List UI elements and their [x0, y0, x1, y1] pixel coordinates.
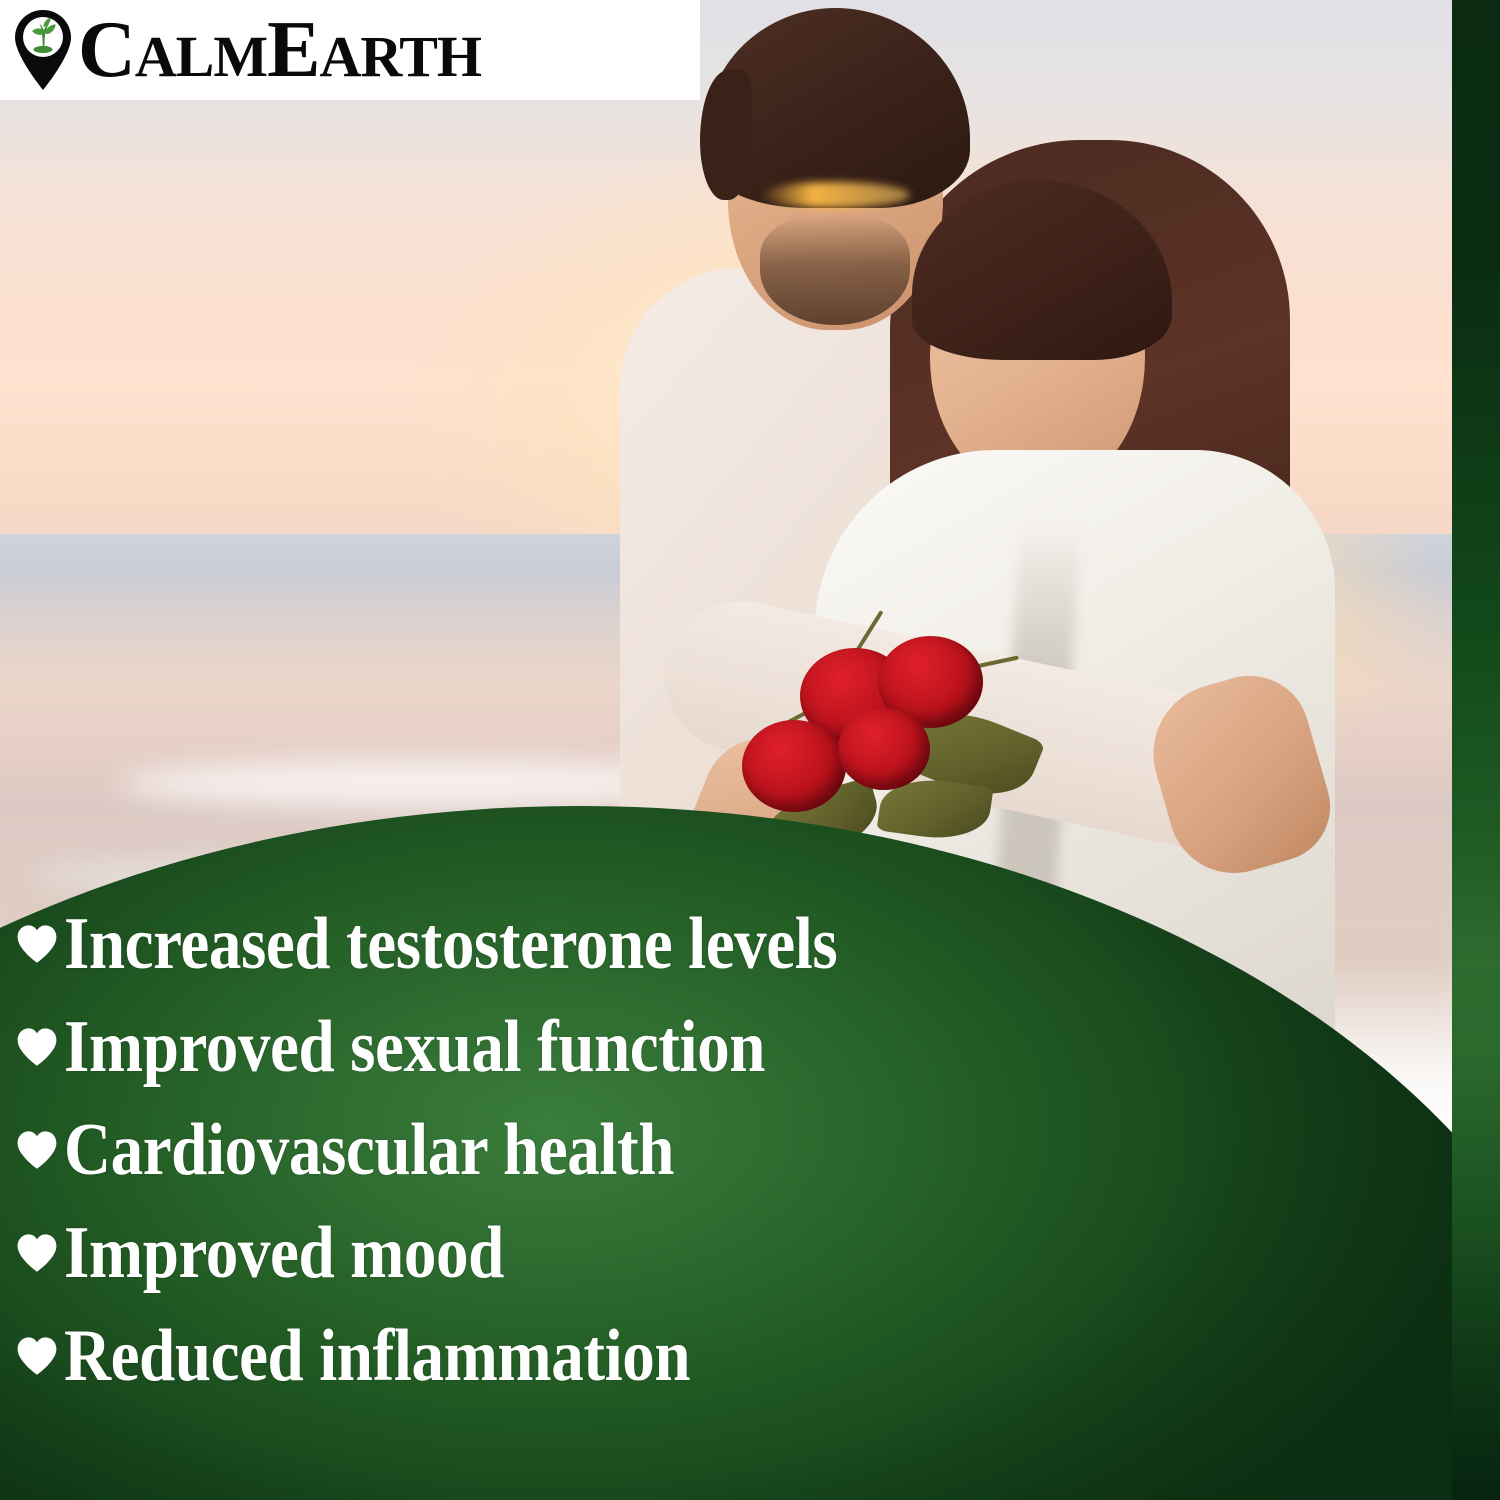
right-green-bar	[1452, 0, 1500, 1500]
brand-letters-alm: ALM	[135, 24, 267, 89]
list-item: Increased testosterone levels	[14, 892, 1194, 995]
heart-icon	[14, 921, 60, 967]
brand-letter-c: C	[78, 6, 135, 94]
list-item: Improved mood	[14, 1201, 1194, 1304]
poster-canvas: Increased testosterone levels Improved s…	[0, 0, 1500, 1500]
brand-letters-arth: ARTH	[319, 24, 481, 89]
sun-flare-streak	[760, 182, 910, 208]
brand-wordmark: CALMEARTH	[78, 10, 481, 90]
list-item-label: Reduced inflammation	[64, 1319, 690, 1393]
heart-icon	[14, 1127, 60, 1173]
heart-icon	[14, 1333, 60, 1379]
list-item-label: Increased testosterone levels	[64, 907, 837, 981]
man-sideburn	[700, 70, 752, 200]
brand-letter-e: E	[267, 6, 319, 94]
benefits-list: Increased testosterone levels Improved s…	[14, 892, 1194, 1407]
brand-logo[interactable]: CALMEARTH	[0, 0, 700, 100]
man-beard	[760, 215, 910, 325]
list-item-label: Improved sexual function	[64, 1010, 765, 1084]
heart-icon	[14, 1230, 60, 1276]
list-item: Cardiovascular health	[14, 1098, 1194, 1201]
list-item-label: Improved mood	[64, 1216, 504, 1290]
heart-icon	[14, 1024, 60, 1070]
location-pin-with-sprout-icon	[12, 8, 74, 92]
list-item: Improved sexual function	[14, 995, 1194, 1098]
list-item: Reduced inflammation	[14, 1304, 1194, 1407]
list-item-label: Cardiovascular health	[64, 1113, 674, 1187]
rose-bloom	[838, 708, 930, 790]
rose-bloom	[742, 720, 846, 812]
